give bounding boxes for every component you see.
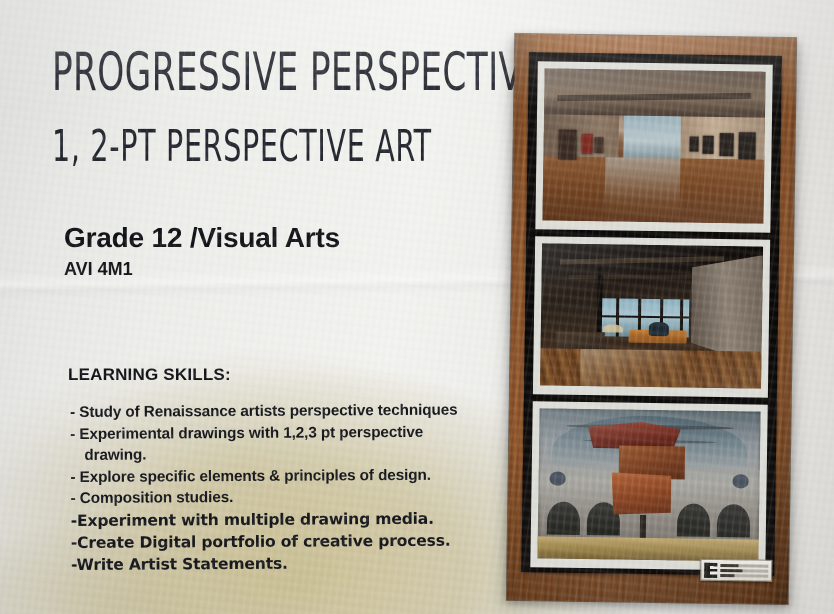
artwork-print-3 xyxy=(530,401,767,570)
list-item: - Study of Renaissance artists perspecti… xyxy=(70,399,480,423)
plaque-line xyxy=(720,569,768,573)
wooden-display-board xyxy=(507,34,796,604)
learning-skills-heading: LEARNING SKILLS: xyxy=(68,365,231,385)
floor-light-pool xyxy=(580,349,682,387)
list-item: -Experiment with multiple drawing media. xyxy=(71,507,481,532)
artwork-print-2 xyxy=(533,236,770,397)
red-panel-structure xyxy=(611,472,671,515)
black-mat-panel xyxy=(521,52,782,576)
grade-label: Grade 12 /Visual Arts xyxy=(64,222,340,254)
floor xyxy=(537,536,758,562)
oval-window xyxy=(733,474,749,488)
list-item: -Write Artist Statements. xyxy=(71,551,481,576)
archway xyxy=(717,504,751,537)
framed-picture xyxy=(594,138,603,153)
framed-picture xyxy=(581,134,592,154)
poster-photograph: PROGRESSIVE PERSPECTIVE: 1, 2-PT PERSPEC… xyxy=(0,0,834,614)
artwork-print-1 xyxy=(535,61,772,232)
school-crest-icon xyxy=(704,562,717,577)
identification-plaque xyxy=(700,559,772,582)
plaque-text-lines xyxy=(720,564,768,578)
list-item: -Create Digital portfolio of creative pr… xyxy=(71,529,481,554)
framed-picture xyxy=(703,135,714,153)
framed-picture xyxy=(738,132,756,160)
industrial-interior-window-wall-perspective-drawing xyxy=(540,243,763,388)
archway xyxy=(547,501,581,534)
lamp xyxy=(603,324,623,333)
title-line-2: 1, 2-PT PERSPECTIVE ART xyxy=(52,122,362,172)
grade-block: Grade 12 /Visual Arts AVI 4M1 xyxy=(64,222,340,280)
list-item: - Composition studies. xyxy=(71,485,481,509)
chair xyxy=(649,322,669,336)
gallery-corridor-one-point-perspective-drawing xyxy=(542,68,765,223)
framed-picture xyxy=(719,133,734,156)
right-wall xyxy=(691,254,763,366)
ceiling-beam xyxy=(568,274,705,278)
framed-picture xyxy=(559,129,577,160)
plaque-line xyxy=(720,564,768,568)
list-item: - Experimental drawings with 1,2,3 pt pe… xyxy=(70,421,480,445)
plaque-line xyxy=(720,574,768,578)
oval-window xyxy=(550,472,566,486)
list-item: - Explore specific elements & principles… xyxy=(70,464,480,488)
floor-reflection xyxy=(604,157,680,222)
learning-skills-list: - Study of Renaissance artists perspecti… xyxy=(70,402,480,576)
text-column: PROGRESSIVE PERSPECTIVE: 1, 2-PT PERSPEC… xyxy=(0,0,500,614)
archway xyxy=(677,503,711,536)
framed-picture xyxy=(689,137,698,152)
title-line-1: PROGRESSIVE PERSPECTIVE: xyxy=(52,44,362,102)
arched-hall-with-red-structure-perspective-drawing xyxy=(537,408,760,561)
support-post xyxy=(639,515,646,539)
back-window xyxy=(623,115,681,161)
course-code-label: AVI 4M1 xyxy=(64,258,340,280)
list-item: drawing. xyxy=(70,442,480,466)
poster-title: PROGRESSIVE PERSPECTIVE: 1, 2-PT PERSPEC… xyxy=(52,44,482,172)
